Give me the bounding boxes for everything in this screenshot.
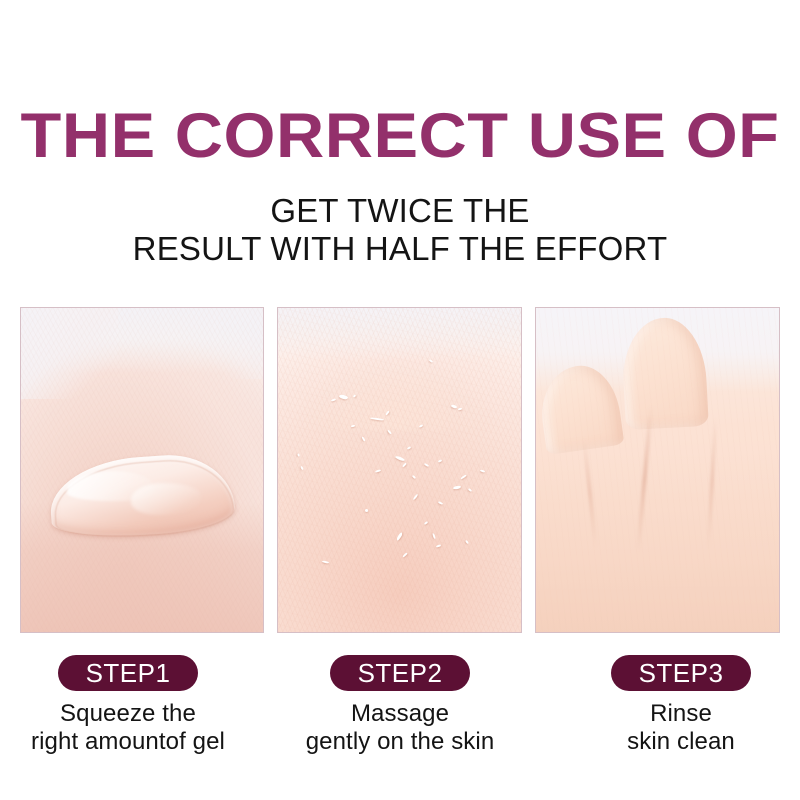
step-photo-2: [277, 307, 522, 633]
step-description-2: Massage gently on the skin: [270, 700, 530, 756]
step-description-3-line-1: Rinse: [551, 700, 800, 728]
step-photo-row: [0, 307, 800, 635]
clean-hand-photo: [536, 308, 779, 632]
peel-flake: [365, 509, 368, 512]
step-photo-1: [20, 307, 264, 633]
step-description-1: Squeeze the right amountof gel: [0, 700, 258, 756]
step-photo-3: [535, 307, 780, 633]
step-description-2-line-1: Massage: [270, 700, 530, 728]
skin-gel-photo: [21, 308, 263, 632]
step-block-1: STEP1 Squeeze the right amountof gel: [0, 655, 258, 756]
subtitle-line-1: GET TWICE THE: [0, 192, 800, 230]
step-description-1-line-1: Squeeze the: [0, 700, 258, 728]
step-badge-1: STEP1: [58, 655, 198, 691]
step-description-2-line-2: gently on the skin: [270, 728, 530, 756]
step-block-3: STEP3 Rinse skin clean: [551, 655, 800, 756]
step-block-2: STEP2 Massage gently on the skin: [270, 655, 530, 756]
step-description-3-line-2: skin clean: [551, 728, 800, 756]
peel-flake: [351, 424, 355, 427]
gel-blob: [50, 457, 234, 535]
page-title: THE CORRECT USE OF: [0, 101, 800, 171]
page-subtitle: GET TWICE THE RESULT WITH HALF THE EFFOR…: [0, 192, 800, 268]
step-labels-row: STEP1 Squeeze the right amountof gel STE…: [0, 655, 800, 775]
infographic-page: THE CORRECT USE OF GET TWICE THE RESULT …: [0, 0, 800, 800]
step-description-3: Rinse skin clean: [551, 700, 800, 756]
step-badge-2: STEP2: [330, 655, 470, 691]
step-description-1-line-2: right amountof gel: [0, 728, 258, 756]
skin-lower-shading: [536, 454, 779, 632]
skin-flakes-photo: [278, 308, 521, 632]
step-badge-3: STEP3: [611, 655, 751, 691]
subtitle-line-2: RESULT WITH HALF THE EFFORT: [0, 230, 800, 268]
